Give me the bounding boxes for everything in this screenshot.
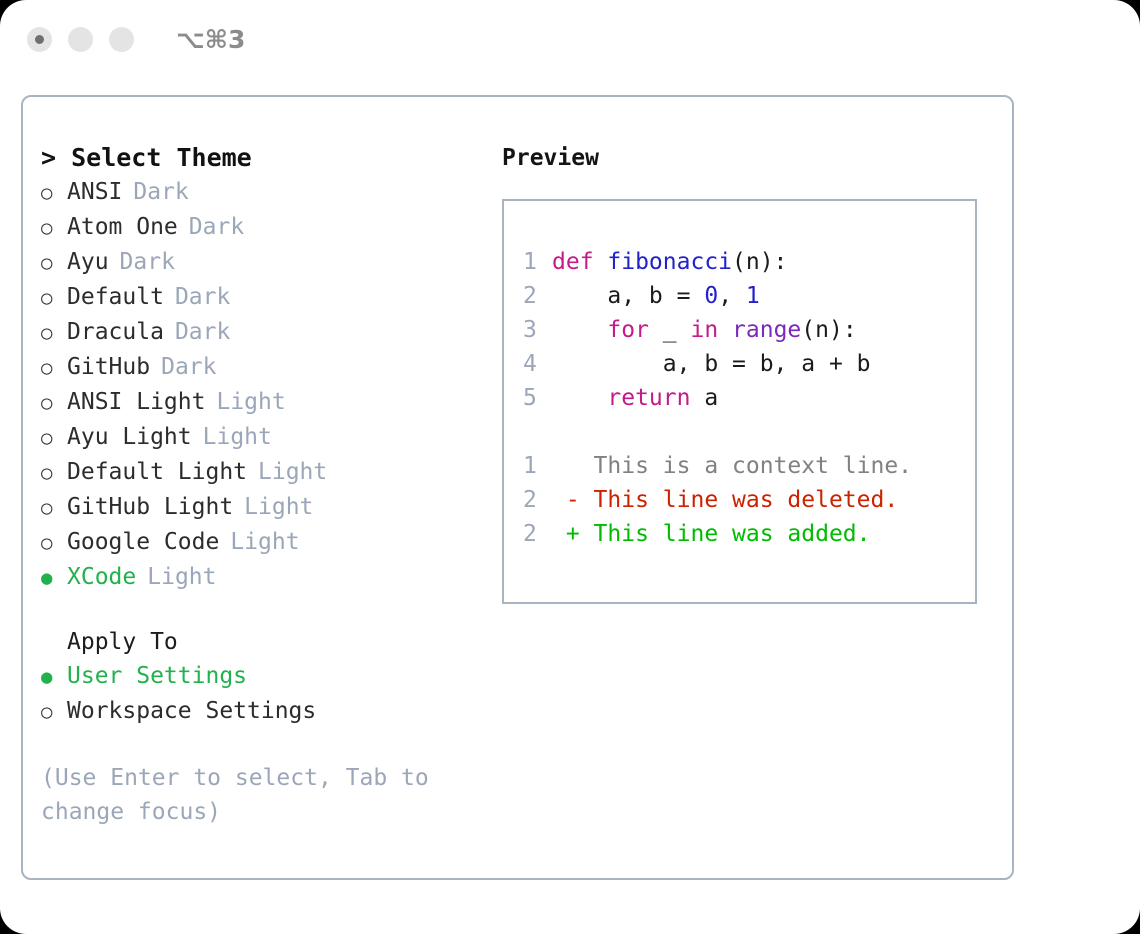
theme-item-label: Default Light	[67, 455, 247, 489]
apply-to-option-label: Workspace Settings	[67, 694, 316, 728]
theme-item-ayu-light[interactable]: ○Ayu LightLight	[41, 420, 491, 455]
radio-unselected-icon: ○	[41, 386, 67, 420]
radio-unselected-icon: ○	[41, 176, 67, 210]
preview-spacer	[523, 415, 975, 449]
theme-variant-tag: Light	[147, 560, 216, 594]
theme-item-label: GitHub	[67, 350, 150, 384]
apply-to-list: ●User Settings○Workspace Settings	[41, 659, 491, 729]
radio-unselected-icon: ○	[41, 695, 67, 729]
apply-to-option-workspace-settings[interactable]: ○Workspace Settings	[41, 694, 491, 729]
token-pl	[552, 385, 607, 411]
preview-heading: Preview	[502, 141, 992, 175]
theme-item-label: ANSI Light	[67, 385, 205, 419]
code-line: 4 a, b = b, a + b	[523, 347, 975, 381]
radio-unselected-icon: ○	[41, 246, 67, 280]
theme-item-label: Google Code	[67, 525, 219, 559]
theme-item-label: Default	[67, 280, 164, 314]
theme-variant-tag: Dark	[189, 210, 244, 244]
theme-item-label: Ayu Light	[67, 420, 192, 454]
traffic-light-active[interactable]	[27, 27, 52, 52]
theme-item-ansi-light[interactable]: ○ANSI LightLight	[41, 385, 491, 420]
radio-unselected-icon: ○	[41, 491, 67, 525]
theme-item-xcode[interactable]: ●XCodeLight	[41, 560, 491, 595]
token-num: 0	[704, 283, 718, 309]
traffic-light-two[interactable]	[68, 27, 93, 52]
theme-variant-tag: Dark	[133, 175, 188, 209]
token-ctx: This is a context line.	[552, 453, 912, 479]
theme-variant-tag: Light	[230, 525, 299, 559]
main-panel: > Select Theme ○ANSIDark○Atom OneDark○Ay…	[21, 95, 1014, 880]
token-pl: ,	[718, 283, 746, 309]
theme-item-google-code[interactable]: ○Google CodeLight	[41, 525, 491, 560]
token-add: + This line was added.	[552, 521, 871, 547]
code-text: def fibonacci(n):	[552, 245, 787, 279]
theme-item-label: Atom One	[67, 210, 178, 244]
apply-to-option-label: User Settings	[67, 659, 247, 693]
token-kw: for	[607, 317, 649, 343]
token-kw: in	[690, 317, 718, 343]
line-number: 1	[523, 449, 552, 483]
theme-item-label: XCode	[67, 560, 136, 594]
code-line: 3 for _ in range(n):	[523, 313, 975, 347]
code-text: - This line was deleted.	[552, 483, 898, 517]
theme-variant-tag: Light	[244, 490, 313, 524]
traffic-light-dot-icon	[35, 35, 44, 44]
token-pl: a	[690, 385, 718, 411]
line-number: 3	[523, 313, 552, 347]
theme-item-github[interactable]: ○GitHubDark	[41, 350, 491, 385]
code-line: 2 a, b = 0, 1	[523, 279, 975, 313]
line-number: 5	[523, 381, 552, 415]
radio-unselected-icon: ○	[41, 211, 67, 245]
line-number: 2	[523, 517, 552, 551]
diff-line: 2 - This line was deleted.	[523, 483, 975, 517]
preview-diff-block: 1 This is a context line.2 - This line w…	[523, 449, 975, 551]
theme-item-ansi[interactable]: ○ANSIDark	[41, 175, 491, 210]
radio-unselected-icon: ○	[41, 421, 67, 455]
token-pl	[718, 317, 732, 343]
radio-unselected-icon: ○	[41, 351, 67, 385]
code-text: for _ in range(n):	[552, 313, 857, 347]
token-num: 1	[746, 283, 760, 309]
apply-to-option-user-settings[interactable]: ●User Settings	[41, 659, 491, 694]
radio-selected-icon: ●	[41, 660, 67, 694]
line-number: 2	[523, 483, 552, 517]
preview-box: 1def fibonacci(n):2 a, b = 0, 13 for _ i…	[502, 199, 977, 604]
theme-item-default[interactable]: ○DefaultDark	[41, 280, 491, 315]
token-pl: (n):	[732, 249, 787, 275]
theme-item-label: Ayu	[67, 245, 109, 279]
token-fn: fibonacci	[607, 249, 732, 275]
token-kw: def	[552, 249, 607, 275]
radio-unselected-icon: ○	[41, 526, 67, 560]
theme-item-github-light[interactable]: ○GitHub LightLight	[41, 490, 491, 525]
line-number: 4	[523, 347, 552, 381]
token-pl: a, b =	[552, 283, 704, 309]
radio-selected-icon: ●	[41, 561, 67, 595]
app-window: ⌥⌘3 > Select Theme ○ANSIDark○Atom OneDar…	[0, 0, 1140, 934]
token-call: range	[732, 317, 801, 343]
theme-item-dracula[interactable]: ○DraculaDark	[41, 315, 491, 350]
apply-to-heading: Apply To	[41, 625, 491, 659]
token-kw: return	[607, 385, 690, 411]
theme-item-label: Dracula	[67, 315, 164, 349]
theme-variant-tag: Dark	[175, 315, 230, 349]
preview-code-block: 1def fibonacci(n):2 a, b = 0, 13 for _ i…	[523, 245, 975, 415]
theme-item-label: ANSI	[67, 175, 122, 209]
theme-selection-column: > Select Theme ○ANSIDark○Atom OneDark○Ay…	[41, 141, 491, 829]
radio-unselected-icon: ○	[41, 456, 67, 490]
token-pl	[552, 317, 607, 343]
theme-item-default-light[interactable]: ○Default LightLight	[41, 455, 491, 490]
line-number: 2	[523, 279, 552, 313]
code-text: return a	[552, 381, 718, 415]
traffic-light-three[interactable]	[109, 27, 134, 52]
diff-line: 1 This is a context line.	[523, 449, 975, 483]
code-line: 1def fibonacci(n):	[523, 245, 975, 279]
theme-item-atom-one[interactable]: ○Atom OneDark	[41, 210, 491, 245]
theme-variant-tag: Dark	[175, 280, 230, 314]
token-del: - This line was deleted.	[552, 487, 898, 513]
code-text: a, b = 0, 1	[552, 279, 760, 313]
code-text: + This line was added.	[552, 517, 871, 551]
theme-variant-tag: Light	[258, 455, 327, 489]
keyboard-hint-text: (Use Enter to select, Tab to change focu…	[41, 761, 441, 829]
theme-variant-tag: Dark	[120, 245, 175, 279]
theme-variant-tag: Dark	[161, 350, 216, 384]
code-text: a, b = b, a + b	[552, 347, 871, 381]
window-shortcut-label: ⌥⌘3	[176, 25, 245, 54]
theme-variant-tag: Light	[216, 385, 285, 419]
token-pl: (n):	[801, 317, 856, 343]
token-pl: _	[649, 317, 691, 343]
select-theme-heading: > Select Theme	[41, 141, 491, 175]
diff-line: 2 + This line was added.	[523, 517, 975, 551]
apply-to-section: Apply To ●User Settings○Workspace Settin…	[41, 625, 491, 729]
token-pl: a, b = b, a + b	[552, 351, 871, 377]
line-number: 1	[523, 245, 552, 279]
theme-item-ayu[interactable]: ○AyuDark	[41, 245, 491, 280]
preview-column: Preview 1def fibonacci(n):2 a, b = 0, 13…	[502, 141, 992, 604]
radio-unselected-icon: ○	[41, 281, 67, 315]
theme-variant-tag: Light	[203, 420, 272, 454]
radio-unselected-icon: ○	[41, 316, 67, 350]
theme-item-label: GitHub Light	[67, 490, 233, 524]
code-text: This is a context line.	[552, 449, 912, 483]
theme-list: ○ANSIDark○Atom OneDark○AyuDark○DefaultDa…	[41, 175, 491, 595]
title-bar: ⌥⌘3	[0, 0, 1140, 78]
code-line: 5 return a	[523, 381, 975, 415]
